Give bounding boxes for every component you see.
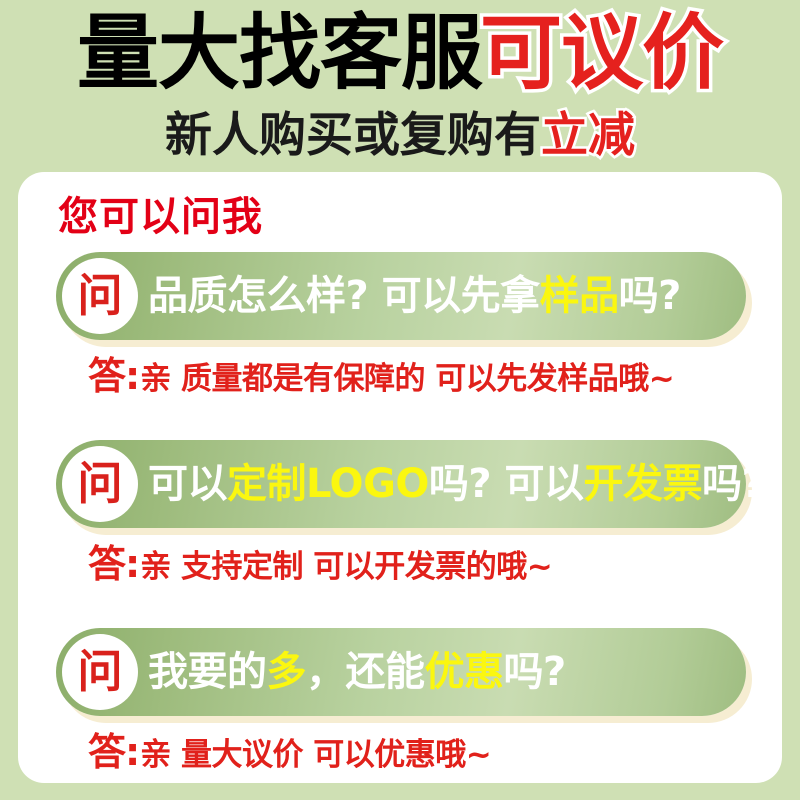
question-badge-icon-2: 问 — [62, 446, 138, 522]
header: 量大找客服可议价 新人购买或复购有立减 — [0, 0, 800, 172]
answer-body-3: 亲 量大议价 可以优惠哦~ — [139, 734, 491, 776]
question-badge-label-1: 问 — [77, 273, 122, 318]
question-text-1: 品质怎么样? 可以先拿样品吗? — [148, 252, 732, 340]
question-segment: 吗? 可以 — [429, 440, 584, 528]
question-pill-1[interactable]: 问 品质怎么样? 可以先拿样品吗? — [56, 252, 746, 340]
answer-label-2: 答: — [88, 543, 139, 585]
answer-body-2: 亲 支持定制 可以开发票的哦~ — [139, 546, 552, 588]
question-segment: 可以 — [148, 440, 227, 528]
question-text-3: 我要的多，还能优惠吗? — [148, 628, 732, 716]
answer-label-1: 答: — [88, 355, 139, 397]
subline-black-text: 新人购买或复购有 — [165, 108, 541, 163]
subline-red-text: 立减 — [541, 108, 635, 163]
question-pill-2[interactable]: 问 可以定制LOGO吗? 可以开发票吗? — [56, 440, 746, 528]
question-segment-highlight: 优惠 — [425, 628, 504, 716]
question-segment-highlight: 多 — [267, 628, 307, 716]
card-title: 您可以问我 — [58, 194, 263, 240]
question-segment-highlight: 样品 — [540, 252, 619, 340]
answer-body-1: 亲 质量都是有保障的 可以先发样品哦~ — [139, 358, 674, 400]
question-segment: ，还能 — [306, 628, 425, 716]
question-segment: 我要的 — [148, 628, 267, 716]
question-pill-3[interactable]: 问 我要的多，还能优惠吗? — [56, 628, 746, 716]
question-segment-highlight: 定制LOGO — [227, 440, 429, 528]
question-badge-label-2: 问 — [77, 461, 122, 506]
faq-card: 您可以问我 问 品质怎么样? 可以先拿样品吗? 答:亲 质量都是有保障的 可以先… — [18, 172, 782, 783]
question-badge-icon-3: 问 — [62, 634, 138, 710]
headline-red-text: 可议价 — [480, 6, 723, 101]
answer-label-3: 答: — [88, 731, 139, 773]
question-segment: 吗? — [702, 440, 764, 528]
subline: 新人购买或复购有立减 — [0, 108, 800, 164]
answer-3: 答:亲 量大议价 可以优惠哦~ — [88, 731, 491, 776]
answer-1: 答:亲 质量都是有保障的 可以先发样品哦~ — [88, 355, 674, 400]
question-badge-label-3: 问 — [77, 649, 122, 694]
question-segment: 品质怎么样? 可以先拿 — [148, 252, 540, 340]
question-segment: 吗? — [504, 628, 566, 716]
promo-banner: 量大找客服可议价 新人购买或复购有立减 您可以问我 问 品质怎么样? 可以先拿样… — [0, 0, 800, 800]
question-segment-highlight: 开发票 — [584, 440, 703, 528]
question-segment: 吗? — [619, 252, 681, 340]
question-badge-icon-1: 问 — [62, 258, 138, 334]
answer-2: 答:亲 支持定制 可以开发票的哦~ — [88, 543, 552, 588]
question-text-2: 可以定制LOGO吗? 可以开发票吗? — [148, 440, 732, 528]
headline: 量大找客服可议价 — [0, 6, 800, 102]
headline-black-text: 量大找客服 — [77, 6, 482, 101]
